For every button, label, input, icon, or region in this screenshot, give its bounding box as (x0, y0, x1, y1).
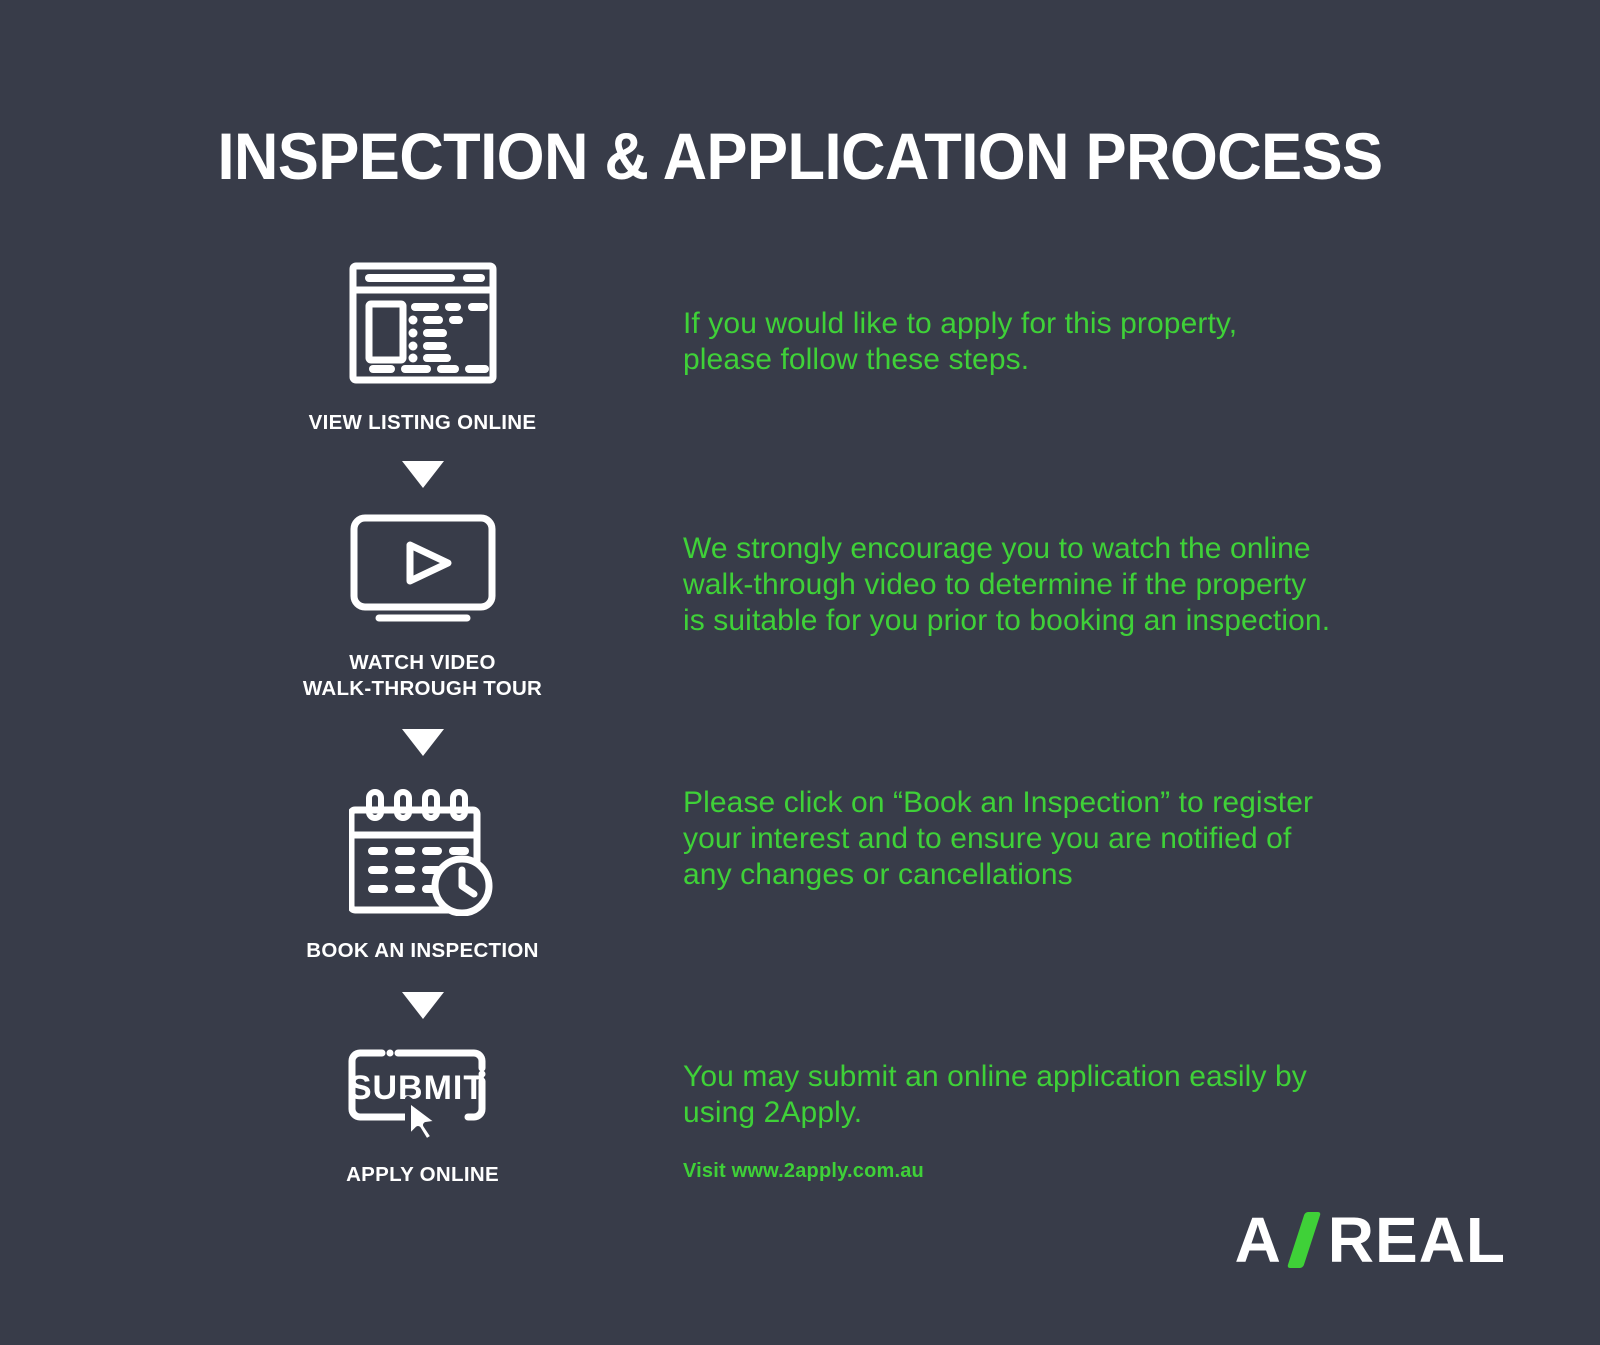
flow-step-label: APPLY ONLINE (346, 1162, 499, 1188)
calendar-clock-icon (349, 784, 497, 916)
logo-word-real: REAL (1328, 1208, 1506, 1272)
flow-step-watch-video[interactable]: WATCH VIDEO WALK-THROUGH TOUR (230, 513, 615, 702)
down-triangle-arrow-icon (402, 461, 444, 488)
visit-url-link[interactable]: Visit www.2apply.com.au (683, 1160, 924, 1183)
copy-step-3: Please click on “Book an Inspection” to … (683, 785, 1313, 893)
down-triangle-arrow-icon (402, 992, 444, 1019)
logo-slash-icon (1287, 1212, 1321, 1268)
brand-logo[interactable]: A REAL (1235, 1208, 1506, 1272)
copy-step-2: We strongly encourage you to watch the o… (683, 531, 1330, 639)
down-triangle-arrow-icon (402, 729, 444, 756)
flow-step-label: VIEW LISTING ONLINE (309, 410, 537, 436)
flow-step-view-listing[interactable]: VIEW LISTING ONLINE (230, 262, 615, 436)
flow-step-label: BOOK AN INSPECTION (306, 938, 538, 964)
svg-text:SUBMIT: SUBMIT (348, 1069, 484, 1107)
browser-listing-icon (349, 262, 497, 384)
flow-step-book-inspection[interactable]: BOOK AN INSPECTION (230, 784, 615, 964)
video-play-screen-icon (349, 513, 497, 625)
logo-letter-a: A (1235, 1208, 1282, 1272)
page-title: INSPECTION & APPLICATION PROCESS (56, 118, 1544, 194)
infographic-page: INSPECTION & APPLICATION PROCESS (0, 0, 1600, 1345)
flow-step-label: WATCH VIDEO WALK-THROUGH TOUR (303, 650, 542, 702)
submit-button-cursor-icon: SUBMIT (346, 1047, 500, 1139)
copy-step-1: If you would like to apply for this prop… (683, 306, 1237, 378)
process-flow-column: VIEW LISTING ONLINE WATCH VIDEO WALK-THR… (230, 262, 615, 1188)
copy-step-4: You may submit an online application eas… (683, 1059, 1307, 1131)
flow-step-apply-online[interactable]: SUBMIT APPLY ONLINE (230, 1047, 615, 1188)
